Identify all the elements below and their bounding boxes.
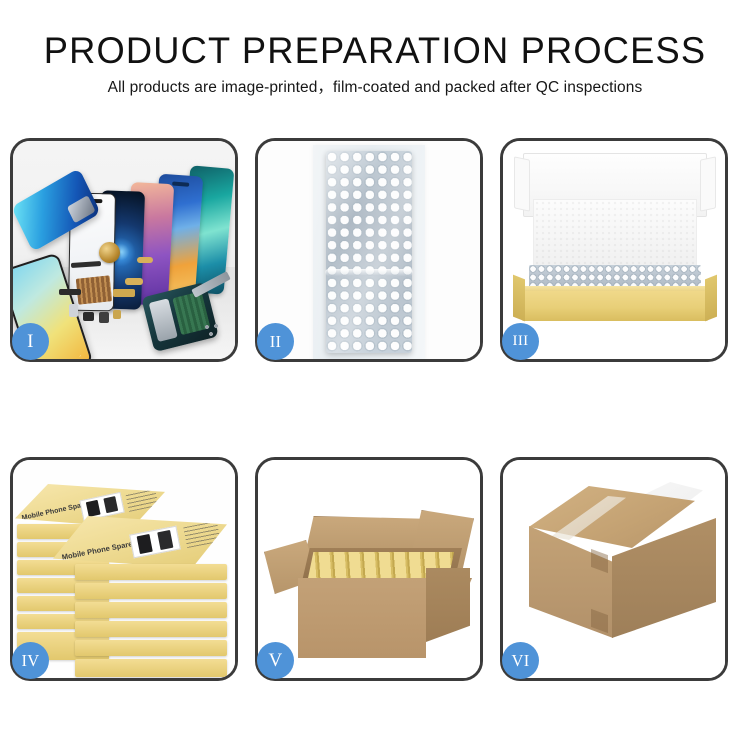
small-part-icon <box>59 289 81 295</box>
step-image-1 <box>13 141 235 359</box>
small-part-icon <box>125 278 143 285</box>
step-badge-1: I <box>12 323 49 360</box>
carton-front-panel-icon <box>298 578 426 658</box>
small-part-icon <box>113 310 121 319</box>
step-card-4[interactable]: Mobile Phone Spare Parts Mobile Phone Sp… <box>10 457 238 681</box>
phone-parts-photo <box>13 141 235 359</box>
box-spec-list <box>125 488 158 512</box>
page-header: PRODUCT PREPARATION PROCESS All products… <box>0 0 750 96</box>
carton-side-panel-icon <box>426 568 470 642</box>
phone-notch-icon <box>172 182 189 187</box>
bubble-wrap-photo <box>258 141 480 359</box>
step-image-2 <box>258 141 480 359</box>
step-badge-5: V <box>257 642 294 679</box>
process-steps-grid: I II III <box>10 138 740 681</box>
page-title: PRODUCT PREPARATION PROCESS <box>8 32 743 69</box>
foam-sheet-icon <box>533 199 697 269</box>
screws-icon <box>203 323 225 337</box>
box-front-icon <box>521 291 709 321</box>
step-card-5[interactable]: V <box>255 457 483 681</box>
wrap-fold-icon <box>325 269 413 276</box>
retail-box-stack: Mobile Phone Spare Parts Mobile Phone Sp… <box>13 460 235 678</box>
retail-box-edge <box>75 659 227 677</box>
retail-box-edge <box>75 640 227 656</box>
page-subtitle: All products are image-printed，film-coat… <box>0 80 750 96</box>
box-product-image <box>79 492 124 521</box>
open-carton-photo <box>258 460 480 678</box>
step-badge-6: VI <box>502 642 539 679</box>
inner-box-photo <box>503 141 725 359</box>
step-card-2[interactable]: II <box>255 138 483 362</box>
small-part-icon <box>83 312 94 321</box>
sealed-carton-photo <box>503 460 725 678</box>
small-part-icon <box>99 312 109 323</box>
step-badge-2: II <box>257 323 294 360</box>
step-card-3[interactable]: III <box>500 138 728 362</box>
step-badge-3: III <box>502 323 539 360</box>
speaker-coil-icon <box>99 242 120 263</box>
bubble-wrap-icon <box>326 151 412 353</box>
small-part-icon <box>69 304 78 317</box>
step-image-6 <box>503 460 725 678</box>
box-product-image <box>129 526 181 559</box>
step-card-1[interactable]: I <box>10 138 238 362</box>
retail-box-edge <box>75 564 227 580</box>
step-card-6[interactable]: VI <box>500 457 728 681</box>
retail-box-edge <box>75 602 227 618</box>
step-badge-4: IV <box>12 642 49 679</box>
retail-box-edge <box>75 621 227 637</box>
step-image-5 <box>258 460 480 678</box>
box-stack-photo: Mobile Phone Spare Parts Mobile Phone Sp… <box>13 460 235 678</box>
box-spec-list <box>183 521 220 548</box>
chip-grid-icon <box>76 275 113 304</box>
step-image-4: Mobile Phone Spare Parts Mobile Phone Sp… <box>13 460 235 678</box>
retail-box-edge <box>75 583 227 599</box>
small-part-icon <box>113 289 135 297</box>
small-part-icon <box>137 257 153 263</box>
step-image-3 <box>503 141 725 359</box>
